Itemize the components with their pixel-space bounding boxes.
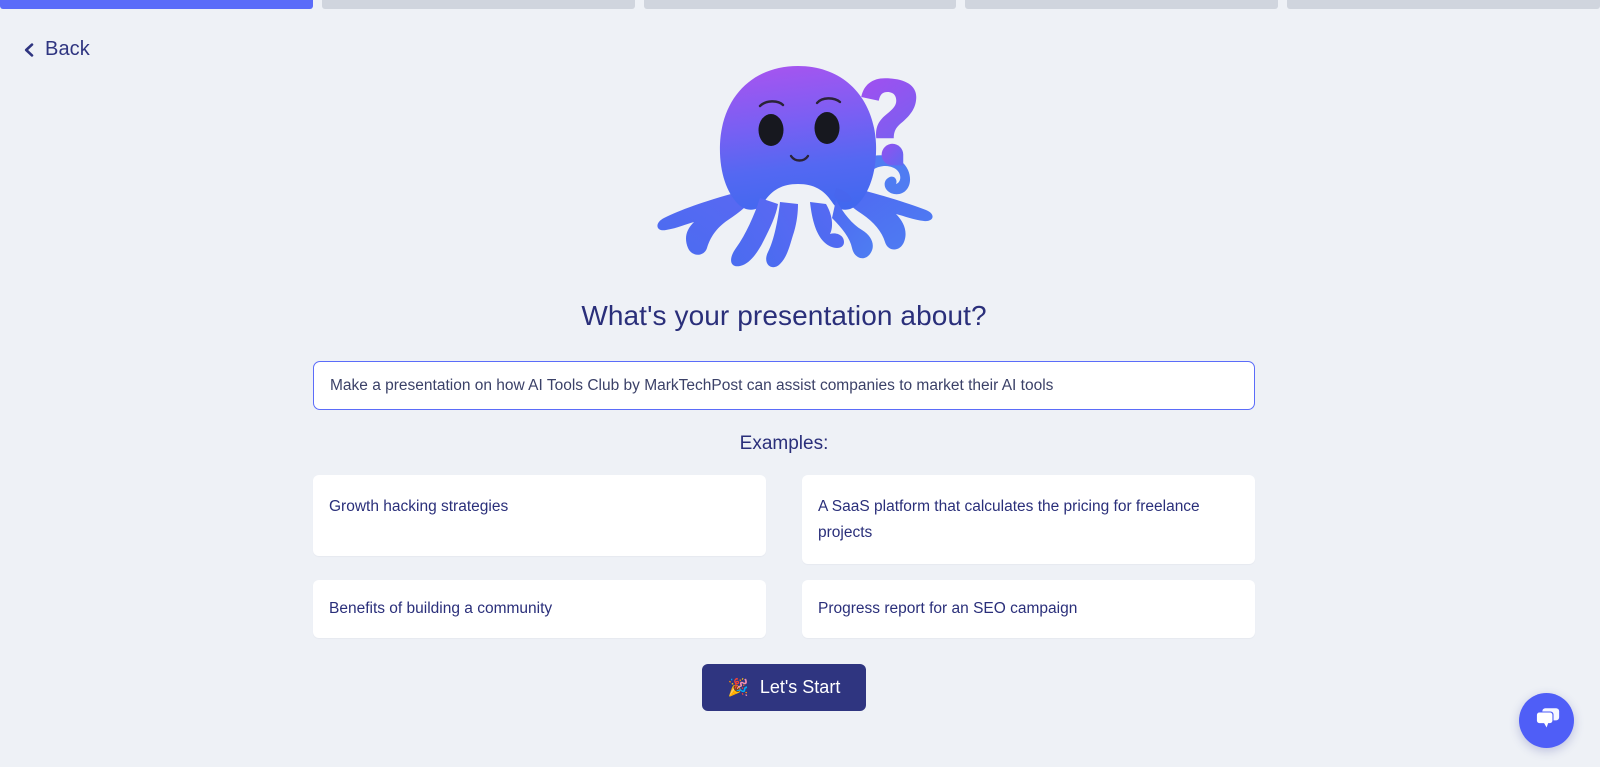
progress-segment-4 <box>965 0 1278 9</box>
example-card[interactable]: Progress report for an SEO campaign <box>802 580 1255 638</box>
lets-start-label: Let's Start <box>760 677 840 698</box>
party-popper-icon: 🎉 <box>728 679 749 696</box>
back-button[interactable]: Back <box>22 38 90 61</box>
chevron-left-icon <box>22 43 36 57</box>
example-card[interactable]: Growth hacking strategies <box>313 475 766 556</box>
example-card[interactable]: Benefits of building a community <box>313 580 766 638</box>
start-row: 🎉 Let's Start <box>313 664 1255 711</box>
back-label: Back <box>45 38 90 61</box>
page-title: What's your presentation about? <box>313 300 1255 332</box>
progress-segment-5 <box>1287 0 1600 9</box>
progress-segment-3 <box>644 0 957 9</box>
lets-start-button[interactable]: 🎉 Let's Start <box>702 664 867 711</box>
examples-grid: Growth hacking strategies A SaaS platfor… <box>313 475 1255 638</box>
main-content: What's your presentation about? Examples… <box>313 300 1255 711</box>
octopus-mascot <box>630 52 970 274</box>
examples-label: Examples: <box>313 410 1255 455</box>
chat-bubbles-icon <box>1533 706 1561 736</box>
chat-widget-button[interactable] <box>1519 693 1574 748</box>
progress-bar <box>0 0 1600 9</box>
progress-segment-2 <box>322 0 635 9</box>
progress-segment-1 <box>0 0 313 9</box>
example-card[interactable]: A SaaS platform that calculates the pric… <box>802 475 1255 564</box>
presentation-topic-input[interactable] <box>313 361 1255 410</box>
